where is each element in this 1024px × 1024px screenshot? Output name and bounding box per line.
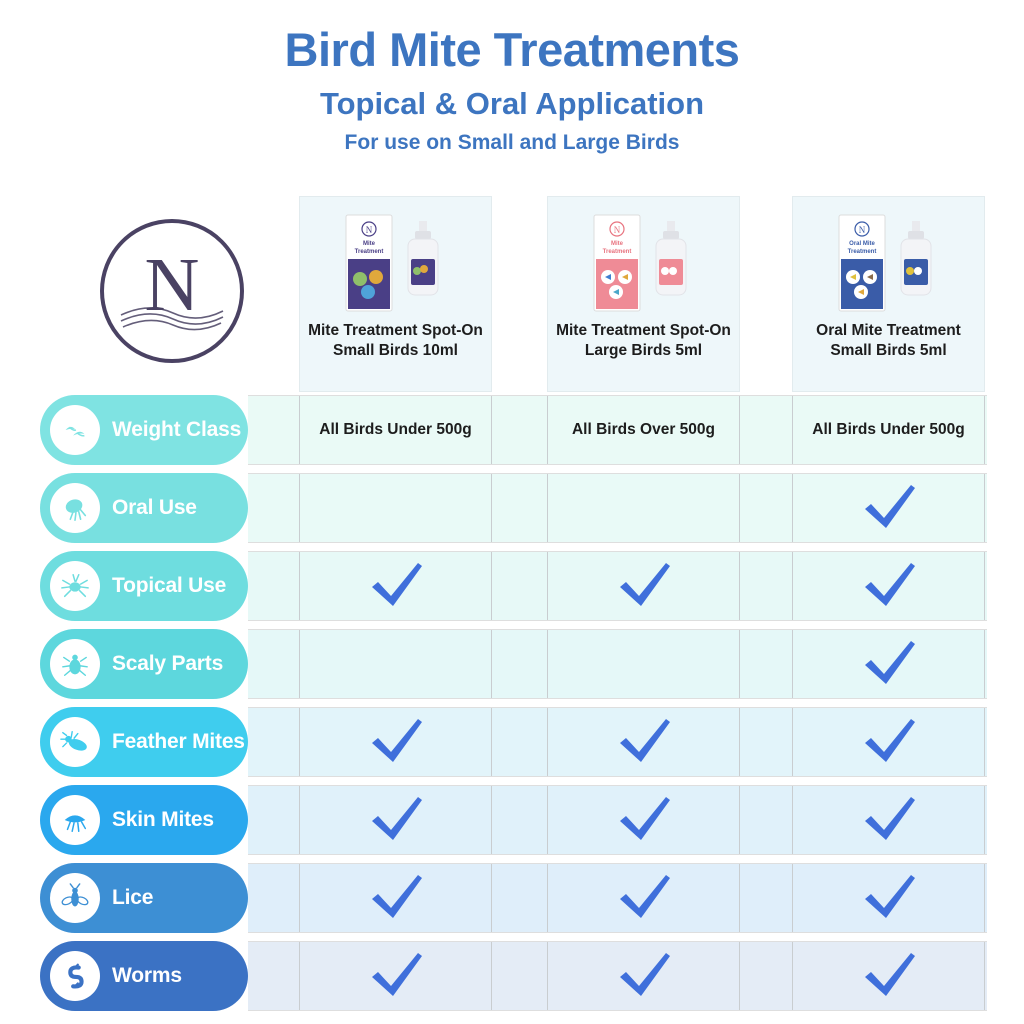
tick-icon (50, 639, 100, 689)
page-subtitle: Topical & Oral Application (0, 87, 1024, 122)
product-card-0[interactable]: N Mite Treatment Mite Treatment Spot-On … (299, 196, 492, 392)
svg-text:Mite: Mite (611, 241, 624, 247)
check-icon (859, 638, 919, 690)
skin-mite-icon (50, 795, 100, 845)
table-cell (792, 552, 985, 620)
table-cell (792, 864, 985, 932)
cell-value: All Birds Under 500g (319, 420, 471, 441)
table-cell: All Birds Under 500g (299, 396, 492, 464)
row-label: Topical Use (112, 574, 226, 598)
flying-birds-icon (50, 405, 100, 455)
svg-text:Oral Mite: Oral Mite (849, 241, 875, 247)
row-cells (248, 551, 987, 621)
row-header-scaly-parts[interactable]: Scaly Parts (40, 629, 248, 699)
table-cell (547, 552, 740, 620)
table-cell: All Birds Under 500g (792, 396, 985, 464)
row-label: Lice (112, 886, 153, 910)
table-cell (792, 708, 985, 776)
page-note: For use on Small and Large Birds (0, 131, 1024, 155)
comparison-grid: Weight Class All Birds Under 500gAll Bir… (0, 392, 1024, 1016)
check-icon (366, 560, 426, 612)
row-label: Skin Mites (112, 808, 214, 832)
check-icon (859, 950, 919, 1002)
check-icon (859, 794, 919, 846)
table-cell (299, 552, 492, 620)
row-label: Worms (112, 964, 182, 988)
svg-text:Mite: Mite (363, 241, 376, 247)
product-image-2: N Oral Mite Treatment (809, 207, 969, 317)
louse-icon (50, 873, 100, 923)
table-row: Lice (0, 860, 1024, 938)
table-row: Skin Mites (0, 782, 1024, 860)
table-cell (299, 942, 492, 1010)
svg-text:N: N (858, 225, 865, 235)
brand-logo: N (97, 216, 247, 366)
table-cell (299, 630, 492, 698)
svg-text:N: N (613, 225, 620, 235)
check-icon (859, 482, 919, 534)
page-header: Bird Mite Treatments Topical & Oral Appl… (0, 0, 1024, 155)
row-cells (248, 629, 987, 699)
table-row: Feather Mites (0, 704, 1024, 782)
check-icon (614, 716, 674, 768)
product-image-0: N Mite Treatment (316, 207, 476, 317)
table-cell (547, 474, 740, 542)
product-name-2: Oral Mite Treatment Small Birds 5ml (793, 321, 984, 362)
check-icon (366, 716, 426, 768)
row-header-weight-class[interactable]: Weight Class (40, 395, 248, 465)
table-cell (792, 630, 985, 698)
row-cells (248, 863, 987, 933)
row-header-oral-use[interactable]: Oral Use (40, 473, 248, 543)
table-cell (792, 942, 985, 1010)
comparison-table-page: Bird Mite Treatments Topical & Oral Appl… (0, 0, 1024, 1024)
table-cell (547, 708, 740, 776)
product-card-1[interactable]: N Mite Treatment Mite Treatment Spot-On … (547, 196, 740, 392)
table-row: Weight Class All Birds Under 500gAll Bir… (0, 392, 1024, 470)
table-cell (792, 786, 985, 854)
check-icon (366, 950, 426, 1002)
table-cell (547, 942, 740, 1010)
table-row: Topical Use (0, 548, 1024, 626)
table-cell (547, 630, 740, 698)
table-row: Oral Use (0, 470, 1024, 548)
row-cells (248, 473, 987, 543)
table-cell (547, 786, 740, 854)
cell-value: All Birds Under 500g (812, 420, 964, 441)
row-header-lice[interactable]: Lice (40, 863, 248, 933)
product-card-2[interactable]: N Oral Mite Treatment Oral Mite Treatmen… (792, 196, 985, 392)
check-icon (859, 872, 919, 924)
table-cell (299, 864, 492, 932)
check-icon (614, 950, 674, 1002)
check-icon (614, 872, 674, 924)
row-header-worms[interactable]: Worms (40, 941, 248, 1011)
cell-value: All Birds Over 500g (572, 420, 715, 441)
svg-text:Treatment: Treatment (602, 249, 631, 255)
table-cell (792, 474, 985, 542)
row-label: Feather Mites (112, 730, 245, 754)
row-label: Scaly Parts (112, 652, 223, 676)
table-cell (299, 708, 492, 776)
product-name-0: Mite Treatment Spot-On Small Birds 10ml (300, 321, 491, 362)
svg-text:Treatment: Treatment (354, 249, 383, 255)
row-cells (248, 707, 987, 777)
row-header-topical-use[interactable]: Topical Use (40, 551, 248, 621)
check-icon (366, 872, 426, 924)
table-row: Scaly Parts (0, 626, 1024, 704)
svg-text:Treatment: Treatment (847, 249, 876, 255)
row-label: Weight Class (112, 418, 241, 442)
product-image-1: N Mite Treatment (564, 207, 724, 317)
row-header-feather-mites[interactable]: Feather Mites (40, 707, 248, 777)
product-name-1: Mite Treatment Spot-On Large Birds 5ml (548, 321, 739, 362)
worm-icon (50, 951, 100, 1001)
table-cell (547, 864, 740, 932)
table-cell (299, 786, 492, 854)
check-icon (859, 560, 919, 612)
row-cells (248, 785, 987, 855)
check-icon (366, 794, 426, 846)
table-row: Worms (0, 938, 1024, 1016)
table-cell: All Birds Over 500g (547, 396, 740, 464)
table-cell (299, 474, 492, 542)
row-cells: All Birds Under 500gAll Birds Over 500gA… (248, 395, 987, 465)
svg-text:N: N (365, 225, 372, 235)
feather-mite-icon (50, 717, 100, 767)
row-cells (248, 941, 987, 1011)
check-icon (614, 794, 674, 846)
row-header-skin-mites[interactable]: Skin Mites (40, 785, 248, 855)
check-icon (859, 716, 919, 768)
flea-icon (50, 483, 100, 533)
mite-legs-icon (50, 561, 100, 611)
check-icon (614, 560, 674, 612)
page-title: Bird Mite Treatments (0, 24, 1024, 77)
brand-logo-icon: N (97, 216, 247, 366)
row-label: Oral Use (112, 496, 197, 520)
